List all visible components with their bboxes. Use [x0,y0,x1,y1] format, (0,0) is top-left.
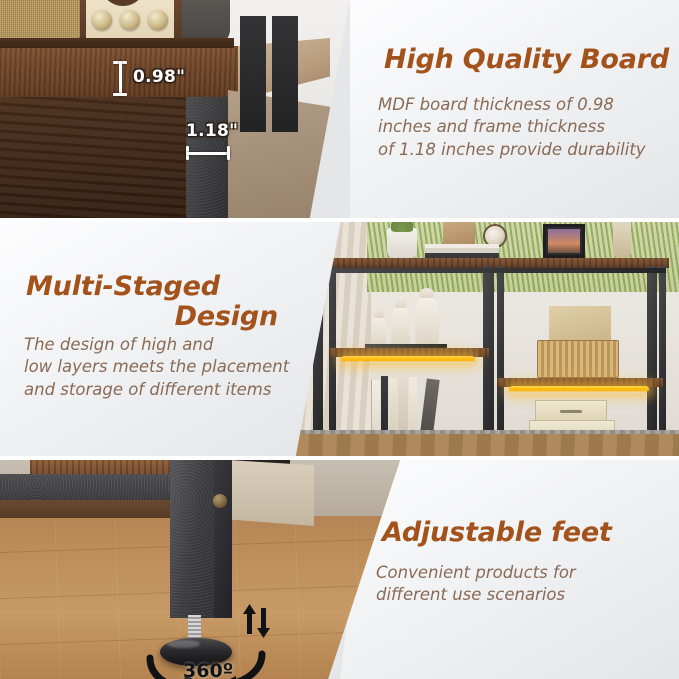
height-adjust-arrows-icon [240,604,274,638]
led-strip-right [509,386,649,393]
radio-speaker-mesh [0,0,80,38]
panel-3-text-plate: Adjustable feet Convenient products for … [340,460,679,679]
cabinet-dark-panel-1 [240,16,266,132]
frame-thickness-label: 1.18" [186,121,238,141]
radio-knob-1 [92,10,112,30]
infographic-page: High Quality Board MDF board thickness o… [0,0,679,679]
panel-1-text-plate: High Quality Board MDF board thickness o… [350,0,679,218]
cat-figurine-medium [391,304,410,346]
panel-high-quality-board: High Quality Board MDF board thickness o… [0,0,679,218]
console-shelf-unit [307,252,669,452]
cat-figurine-large [415,294,439,346]
panel-multi-staged-design: Multi-Staged Design The design of high a… [0,222,679,456]
panel-3-body: Convenient products for different use sc… [376,562,666,607]
radio-knob-2 [120,10,140,30]
panel-2-title-line-2: Design [26,302,296,332]
woven-basket [537,340,619,378]
screw-icon [213,494,227,508]
frame-thickness-caliper [186,146,230,160]
top-decor-box [443,222,475,246]
board-thickness-caliper [113,61,127,96]
panel-2-body: The design of high and low layers meets … [24,334,324,401]
frame-post-right [647,266,657,444]
cat-figurine-small [371,314,386,346]
panel-1-title: High Quality Board [384,45,669,75]
radio-knob-3 [148,10,168,30]
panel-3-title: Adjustable feet [382,518,612,548]
frame-post-right-inner [659,266,666,444]
frame-post-middle-inner [497,266,504,444]
cabinet-dark-panel-2 [272,16,298,132]
rotation-degree-label: 360º [183,660,233,679]
background-door-panel [228,460,314,526]
panel-adjustable-feet: Adjustable feet Convenient products for … [0,460,679,679]
cabinet-front [0,97,186,218]
tabletop-surface [0,38,234,48]
panel-1-body: MDF board thickness of 0.98 inches and f… [378,94,678,161]
storage-box-upper [535,400,607,422]
board-thickness-label: 0.98" [133,67,185,87]
panel-2-text-plate: Multi-Staged Design The design of high a… [0,222,340,456]
led-strip-left [341,356,475,363]
leg-shadow-edge [214,460,232,618]
panel-1-photo: 0.98" 1.18" [0,0,350,218]
frame-top-rail [313,268,666,273]
panel-2-title-line-1: Multi-Staged [26,271,220,302]
panel-2-photo [295,222,679,456]
wood-floor [295,434,679,456]
floor-baseboard [0,500,176,518]
panel-3-photo: 360º [0,460,400,679]
